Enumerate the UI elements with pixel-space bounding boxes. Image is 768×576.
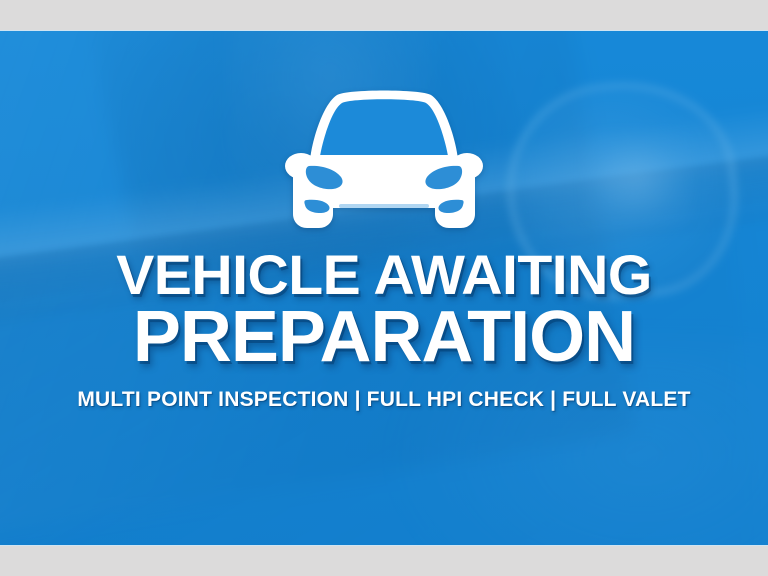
headline-line-secondary: PREPARATION (0, 300, 768, 374)
services-subtitle: MULTI POINT INSPECTION | FULL HPI CHECK … (0, 388, 768, 412)
vehicle-awaiting-preparation-banner: VEHICLE AWAITING PREPARATION MULTI POINT… (0, 0, 768, 576)
letterbox-bar-bottom (0, 546, 768, 576)
banner-content: VEHICLE AWAITING PREPARATION MULTI POINT… (0, 30, 768, 546)
headline-block: VEHICLE AWAITING PREPARATION MULTI POINT… (0, 246, 768, 412)
letterbox-bar-top (0, 0, 768, 30)
banner-stage: VEHICLE AWAITING PREPARATION MULTI POINT… (0, 30, 768, 546)
headline-line-primary: VEHICLE AWAITING (0, 246, 768, 304)
car-front-icon (279, 82, 489, 234)
